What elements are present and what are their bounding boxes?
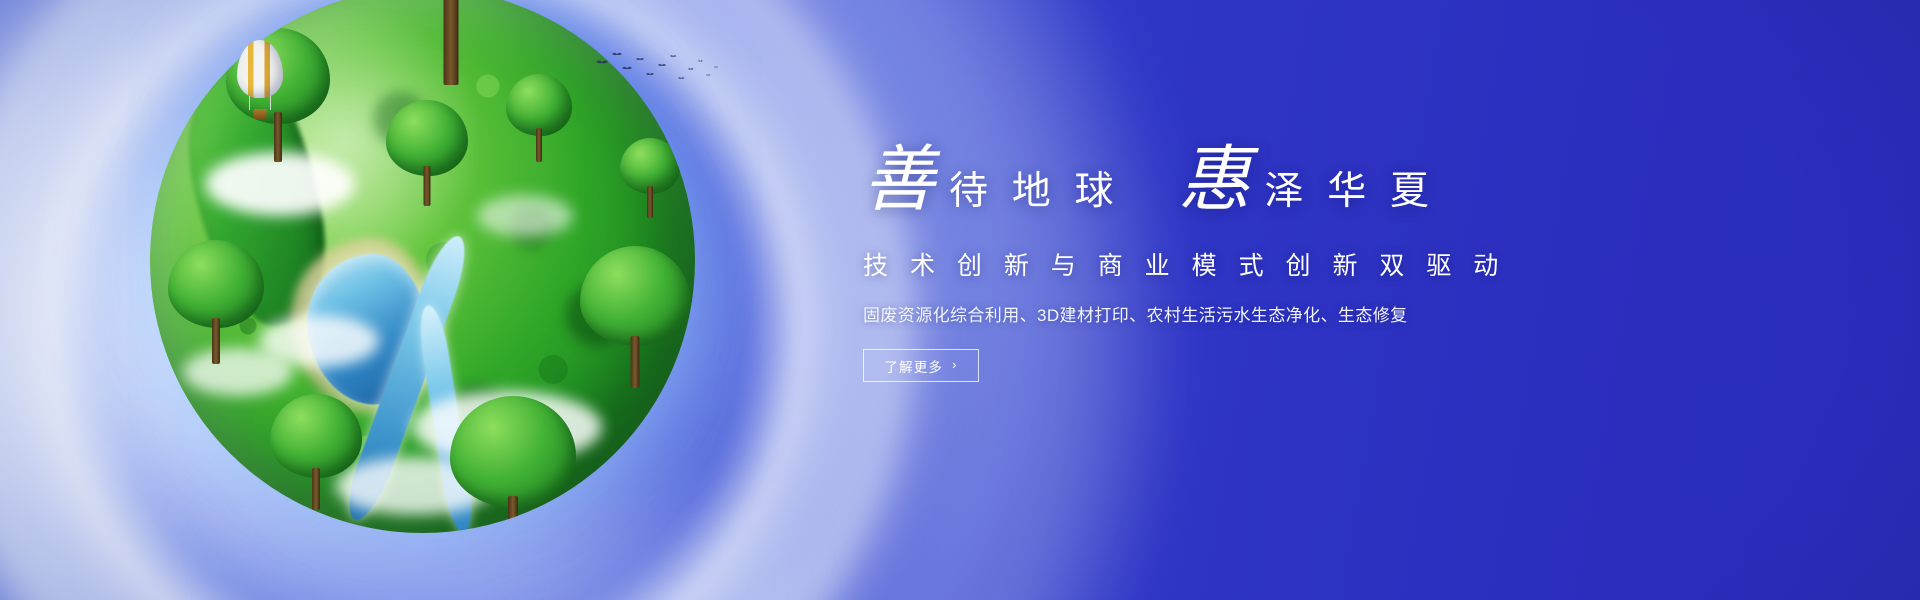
globe-hero-tree <box>326 0 576 73</box>
globe-cloud <box>477 195 573 237</box>
bird-flock-icon <box>592 48 722 90</box>
headline-phrase-2: 惠 泽 华 夏 <box>1179 144 1437 216</box>
globe-tree <box>506 74 572 160</box>
learn-more-button[interactable]: 了解更多 › <box>863 349 979 382</box>
banner-copy: 善 待 地 球 惠 泽 华 夏 技 术 创 新 与 商 业 模 式 创 新 双 … <box>863 130 1763 382</box>
chevron-right-icon: › <box>952 358 958 371</box>
headline-char-main-2: 惠 <box>1179 144 1253 216</box>
headline-chars-sub-1: 待 地 球 <box>937 172 1121 216</box>
globe-tree <box>168 240 264 360</box>
globe-tree <box>386 100 468 204</box>
globe-tree <box>580 246 690 384</box>
headline: 善 待 地 球 惠 泽 华 夏 <box>863 130 1763 216</box>
hot-air-balloon-icon <box>232 40 288 126</box>
globe-tree <box>270 394 362 506</box>
headline-chars-sub-2: 泽 华 夏 <box>1253 172 1437 216</box>
globe-tree <box>620 138 680 216</box>
learn-more-label: 了解更多 <box>884 356 943 376</box>
globe-tree <box>450 396 576 533</box>
subtitle-secondary: 固废资源化综合利用、3D建材打印、农村生活污水生态净化、生态修复 <box>863 301 1763 326</box>
hero-banner: 善 待 地 球 惠 泽 华 夏 技 术 创 新 与 商 业 模 式 创 新 双 … <box>0 0 1920 600</box>
headline-phrase-1: 善 待 地 球 <box>863 144 1121 216</box>
subtitle-primary: 技 术 创 新 与 商 业 模 式 创 新 双 驱 动 <box>863 246 1763 282</box>
headline-char-main-1: 善 <box>863 144 937 216</box>
